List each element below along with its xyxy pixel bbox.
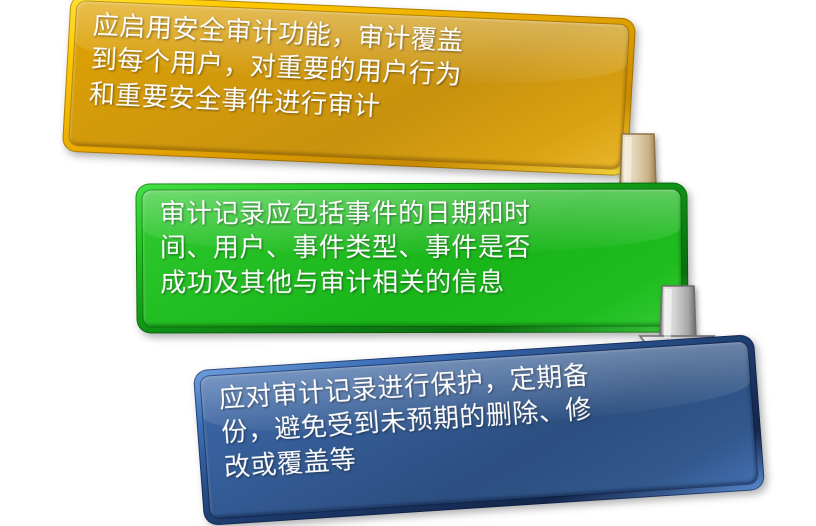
process-step-3-shape: 应对审计记录进行保护，定期备 份，避免受到未预期的删除、修 改或覆盖等 xyxy=(193,334,766,526)
diagram-canvas: 应启用安全审计功能，审计覆盖 到每个用户，对重要的用户行为 和重要安全事件进行审… xyxy=(0,0,816,524)
process-step-3-text: 应对审计记录进行保护，定期备 份，避免受到未预期的删除、修 改或覆盖等 xyxy=(193,334,766,526)
process-step-2-shape: 审计记录应包括事件的日期和时 间、用户、事件类型、事件是否 成功及其他与审计相关… xyxy=(135,183,688,334)
process-step-3[interactable]: 应对审计记录进行保护，定期备 份，避免受到未预期的删除、修 改或覆盖等 xyxy=(193,334,766,526)
process-step-1[interactable]: 应启用安全审计功能，审计覆盖 到每个用户，对重要的用户行为 和重要安全事件进行审… xyxy=(62,0,637,176)
process-step-1-shape: 应启用安全审计功能，审计覆盖 到每个用户，对重要的用户行为 和重要安全事件进行审… xyxy=(62,0,637,176)
process-step-1-text: 应启用安全审计功能，审计覆盖 到每个用户，对重要的用户行为 和重要安全事件进行审… xyxy=(62,0,637,176)
process-step-2[interactable]: 审计记录应包括事件的日期和时 间、用户、事件类型、事件是否 成功及其他与审计相关… xyxy=(135,183,688,334)
process-step-2-text: 审计记录应包括事件的日期和时 间、用户、事件类型、事件是否 成功及其他与审计相关… xyxy=(135,183,688,334)
